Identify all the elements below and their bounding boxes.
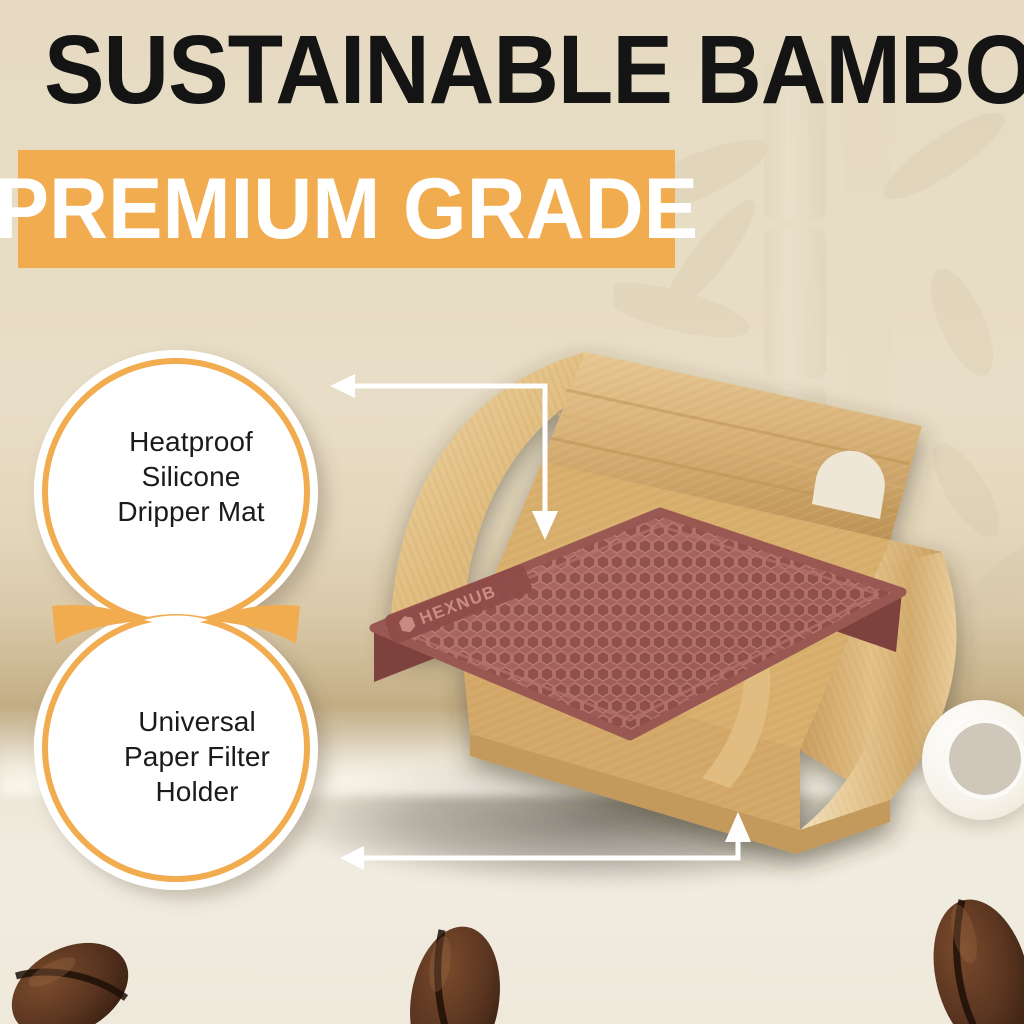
infographic-canvas: SUSTAINABLE BAMBOO PREMIUM GRADE — [0, 0, 1024, 1024]
product-image-bamboo-filter-holder: HEXNUB — [330, 330, 950, 890]
callout-line: Dripper Mat — [62, 494, 320, 529]
premium-grade-banner: PREMIUM GRADE — [18, 150, 675, 268]
callouts-group: HeatproofSiliconeDripper Mat UniversalPa… — [16, 344, 346, 914]
coffee-beans-decoration — [0, 880, 1024, 1024]
coffee-bean — [0, 924, 144, 1024]
premium-grade-label: PREMIUM GRADE — [0, 165, 698, 253]
callout-line: Holder — [68, 774, 326, 809]
coffee-bean — [400, 920, 510, 1024]
page-title: SUSTAINABLE BAMBOO — [44, 20, 886, 120]
callout-line: Paper Filter — [68, 739, 326, 774]
callout-line: Heatproof — [62, 424, 320, 459]
callout-line: Silicone — [62, 459, 320, 494]
callout-line: Universal — [68, 704, 326, 739]
callout-label-heatproof-silicone-dripper-mat: HeatproofSiliconeDripper Mat — [62, 424, 320, 529]
coffee-bean — [918, 889, 1024, 1024]
callout-label-universal-paper-filter-holder: UniversalPaper FilterHolder — [68, 704, 326, 809]
